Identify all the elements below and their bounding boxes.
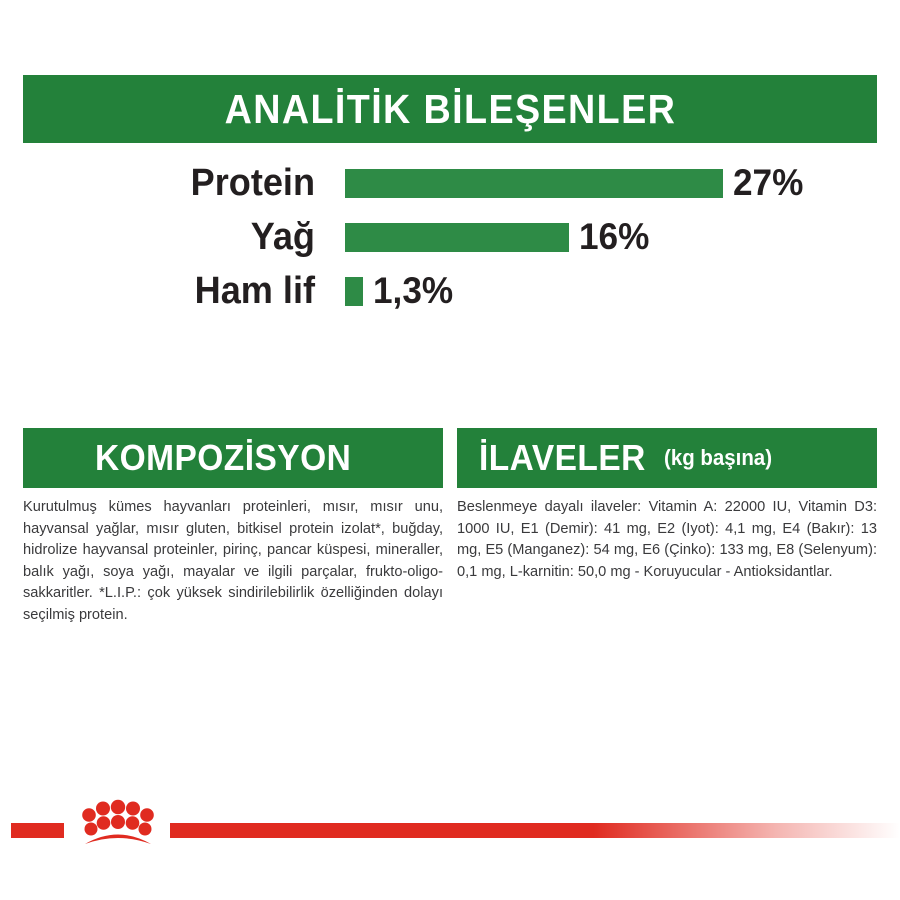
analytical-components-header: ANALİTİK BİLEŞENLER — [23, 75, 877, 143]
bar-track-fat — [345, 223, 569, 252]
page-title: ANALİTİK BİLEŞENLER — [224, 89, 676, 130]
composition-panel-title: KOMPOZİSYON — [95, 440, 351, 476]
composition-panel-header: KOMPOZİSYON — [23, 428, 443, 488]
nutrition-info-page: ANALİTİK BİLEŞENLER Protein 27% Yağ 16% … — [0, 0, 900, 900]
chart-row-crude-fibre: Ham lif 1,3% — [23, 268, 877, 322]
bar-track-protein — [345, 169, 723, 198]
bar-label-crude-fibre: Ham lif — [68, 268, 315, 314]
chart-row-protein: Protein 27% — [23, 160, 877, 214]
additives-panel-title: İLAVELER — [479, 440, 646, 476]
additives-panel-header: İLAVELER (kg başına) — [457, 428, 877, 488]
bar-value-fat: 16% — [579, 214, 649, 260]
bar-value-crude-fibre: 1,3% — [373, 268, 453, 314]
additives-panel: İLAVELER (kg başına) Beslenmeye dayalı i… — [457, 428, 877, 626]
chart-row-fat: Yağ 16% — [23, 214, 877, 268]
bar-fill-fat — [345, 223, 569, 252]
bar-fill-protein — [345, 169, 723, 198]
bar-label-protein: Protein — [68, 160, 315, 206]
bar-label-fat: Yağ — [68, 214, 315, 260]
composition-panel-text: Kurutulmuş kümes hayvanları proteinleri,… — [23, 488, 443, 626]
bar-fill-crude-fibre — [345, 277, 363, 306]
additives-panel-text: Beslenmeye dayalı ilaveler: Vitamin A: 2… — [457, 488, 877, 583]
bar-value-protein: 27% — [733, 160, 803, 206]
footer-rule-left — [11, 823, 64, 838]
bar-track-crude-fibre — [345, 277, 363, 306]
page-footer — [0, 790, 900, 900]
royal-canin-crown-icon — [72, 798, 164, 854]
footer-rule-right — [170, 823, 900, 838]
info-panels: KOMPOZİSYON Kurutulmuş kümes hayvanları … — [23, 428, 877, 626]
additives-panel-subtitle: (kg başına) — [664, 447, 772, 469]
analytical-components-chart: Protein 27% Yağ 16% Ham lif 1,3% — [23, 160, 877, 322]
composition-panel: KOMPOZİSYON Kurutulmuş kümes hayvanları … — [23, 428, 443, 626]
